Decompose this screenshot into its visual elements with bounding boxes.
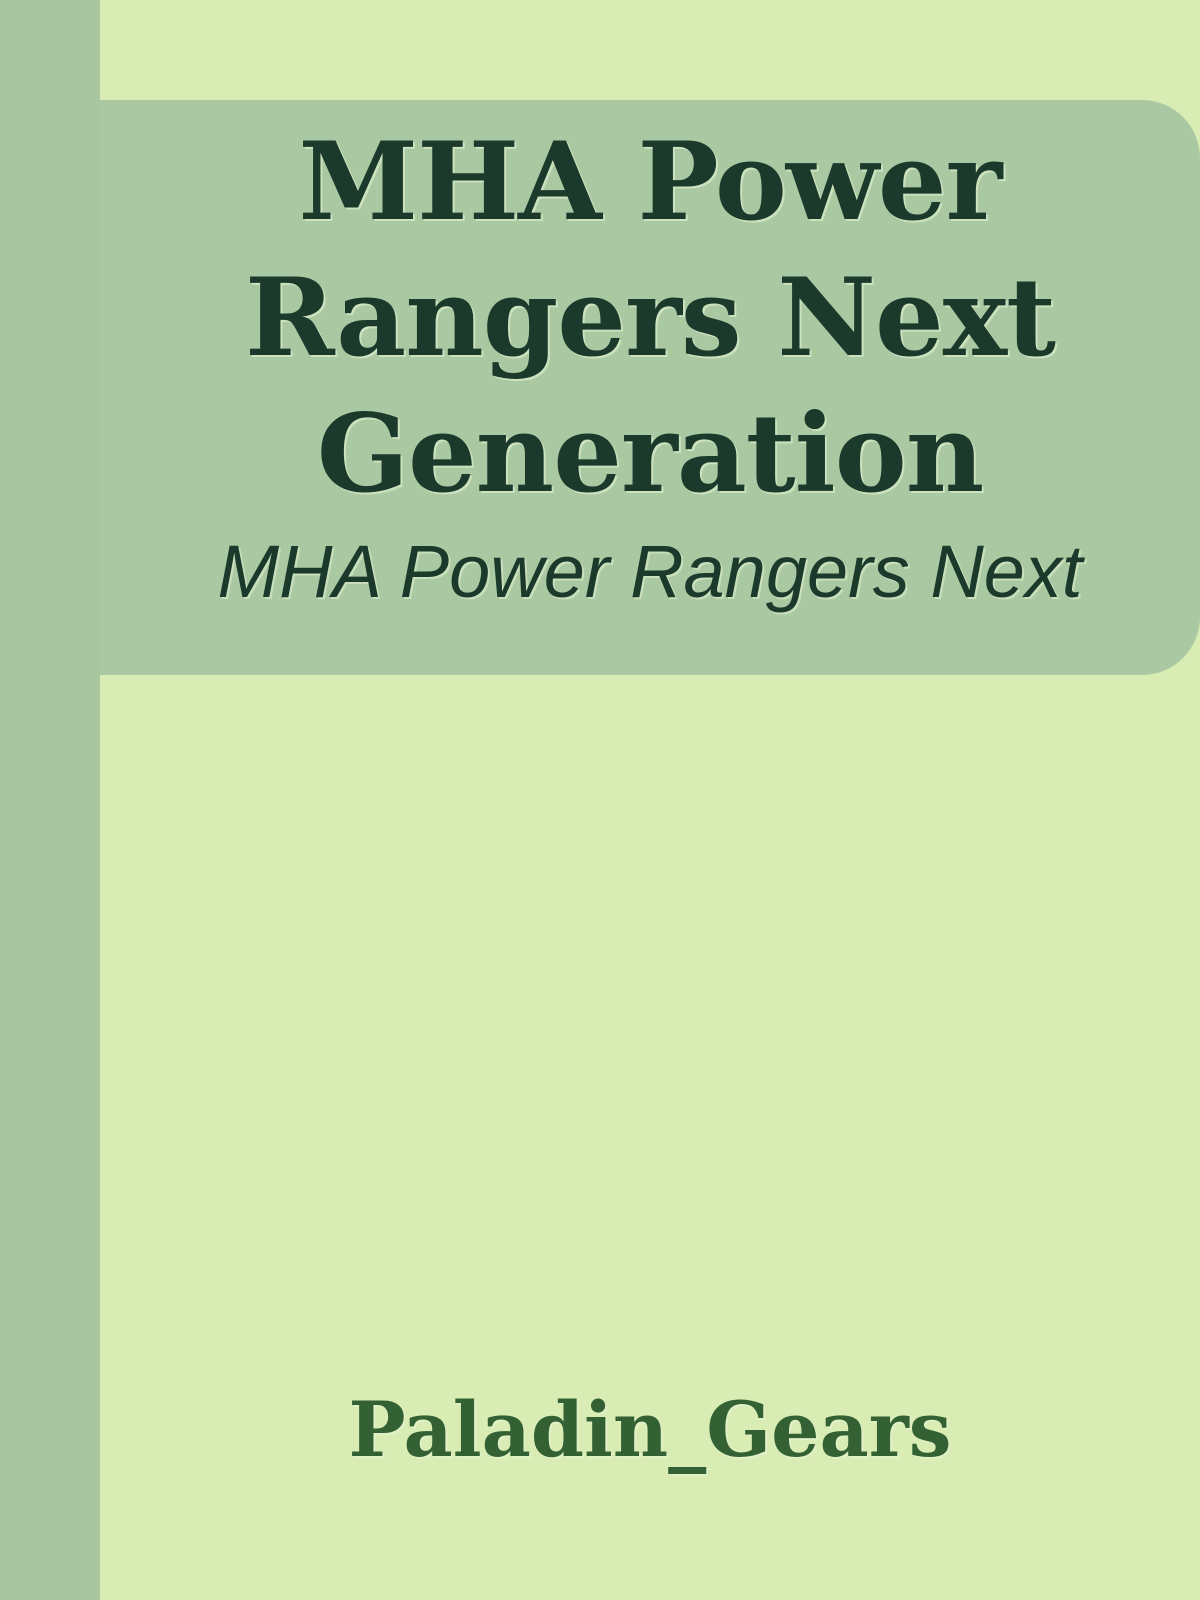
author-name: Paladin_Gears — [348, 1388, 951, 1472]
cover-spine-strip — [0, 0, 100, 1600]
book-subtitle: MHA Power Rangers Next — [130, 528, 1170, 617]
title-panel: MHA Power Rangers Next Generation MHA Po… — [100, 100, 1200, 675]
author-area: Paladin_Gears — [100, 1330, 1200, 1530]
book-title: MHA Power Rangers Next Generation — [130, 114, 1170, 522]
book-cover: MHA Power Rangers Next Generation MHA Po… — [0, 0, 1200, 1600]
